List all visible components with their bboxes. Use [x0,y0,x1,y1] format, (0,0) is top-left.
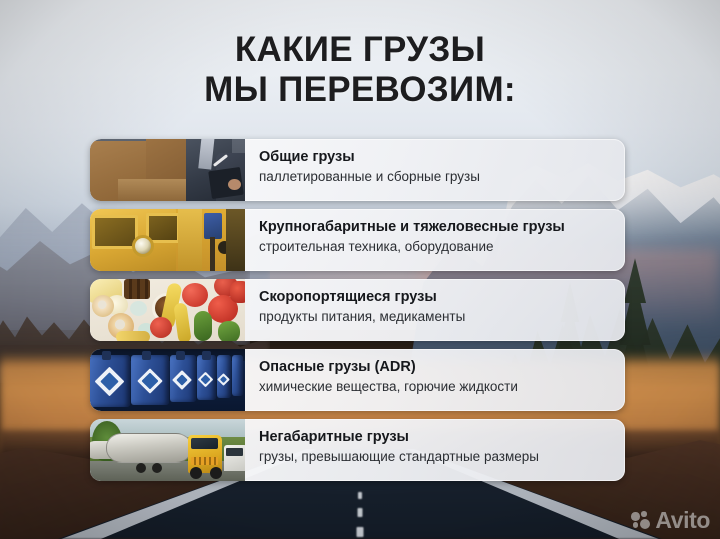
list-item-title: Негабаритные грузы [259,428,613,446]
list-item-subtitle: грузы, превышающие стандартные размеры [259,448,613,466]
barrel-cap-1 [102,351,111,360]
avito-dots-logo [631,511,650,530]
donut-small [92,295,114,317]
yellow-heavy-machinery-photo [90,209,245,271]
trailer-wheel-1 [136,463,146,473]
cargo-types-list: Общие грузы паллетированные и сборные гр… [90,139,625,489]
banana-2 [173,302,191,341]
blue-hydraulic-part [204,213,222,239]
macaron-1 [130,301,147,316]
headlight-icon [132,235,154,257]
chocolate-bar [124,279,150,299]
logo-dot-2 [641,511,647,517]
list-item-subtitle: строительная техника, оборудование [259,238,613,256]
trailer-wheel-2 [152,463,162,473]
list-item-text: Общие грузы паллетированные и сборные гр… [245,139,625,201]
list-item-title: Крупногабаритные и тяжеловесные грузы [259,218,613,236]
barrel-cap-3 [176,351,185,360]
list-item-text: Опасные грузы (ADR) химические вещества,… [245,349,625,411]
truck-grille [191,457,218,465]
machine-pillar [178,209,202,271]
list-item-title: Опасные грузы (ADR) [259,358,613,376]
cardboard-box-front [118,179,192,201]
machine-shadow-side [226,209,245,271]
avito-watermark: Avito [631,509,710,532]
list-item[interactable]: Общие грузы паллетированные и сборные гр… [90,139,625,201]
list-item-text: Скоропортящиеся грузы продукты питания, … [245,279,625,341]
truck-windshield [191,438,218,449]
cucumber-2 [218,321,240,341]
barrel-cap-4 [202,351,211,360]
list-item[interactable]: Крупногабаритные и тяжеловесные грузы ст… [90,209,625,271]
page-title-line-2: МЫ ПЕРЕВОЗИМ: [0,70,720,110]
avito-wordmark: Avito [655,509,710,532]
corn-cob [116,331,150,341]
bell-pepper [230,281,245,303]
truck-wheel-2 [210,467,222,479]
machine-pipe [210,237,215,271]
page-title: КАКИЕ ГРУЗЫ МЫ ПЕРЕВОЗИМ: [0,30,720,110]
cardboard-boxes-and-inspector-photo [90,139,245,201]
list-item-subtitle: паллетированные и сборные грузы [259,168,613,186]
list-item-subtitle: химические вещества, горючие жидкости [259,378,613,396]
oversize-tank-load [106,433,192,463]
list-item-title: Скоропортящиеся грузы [259,288,613,306]
list-item-title: Общие грузы [259,148,613,166]
cucumber-1 [194,311,212,341]
barrel-cap-2 [142,351,151,360]
logo-dot-4 [640,519,650,529]
hand [228,179,241,190]
page-title-line-1: КАКИЕ ГРУЗЫ [0,30,720,70]
list-item-text: Негабаритные грузы грузы, превышающие ст… [245,419,625,481]
list-item-text: Крупногабаритные и тяжеловесные грузы ст… [245,209,625,271]
logo-dot-3 [633,522,639,528]
list-item[interactable]: Негабаритные грузы грузы, превышающие ст… [90,419,625,481]
logo-dot-1 [631,512,640,521]
list-item-subtitle: продукты питания, медикаменты [259,308,613,326]
escort-van-window [226,448,243,456]
chemical-barrel-6 [232,355,243,396]
apple [150,317,172,338]
fresh-food-assortment-photo [90,279,245,341]
truck-wheel-1 [190,467,202,479]
blue-chemical-barrels-photo [90,349,245,411]
list-item[interactable]: Скоропортящиеся грузы продукты питания, … [90,279,625,341]
oversize-load-truck-photo [90,419,245,481]
tomato-1 [182,283,208,307]
list-item[interactable]: Опасные грузы (ADR) химические вещества,… [90,349,625,411]
